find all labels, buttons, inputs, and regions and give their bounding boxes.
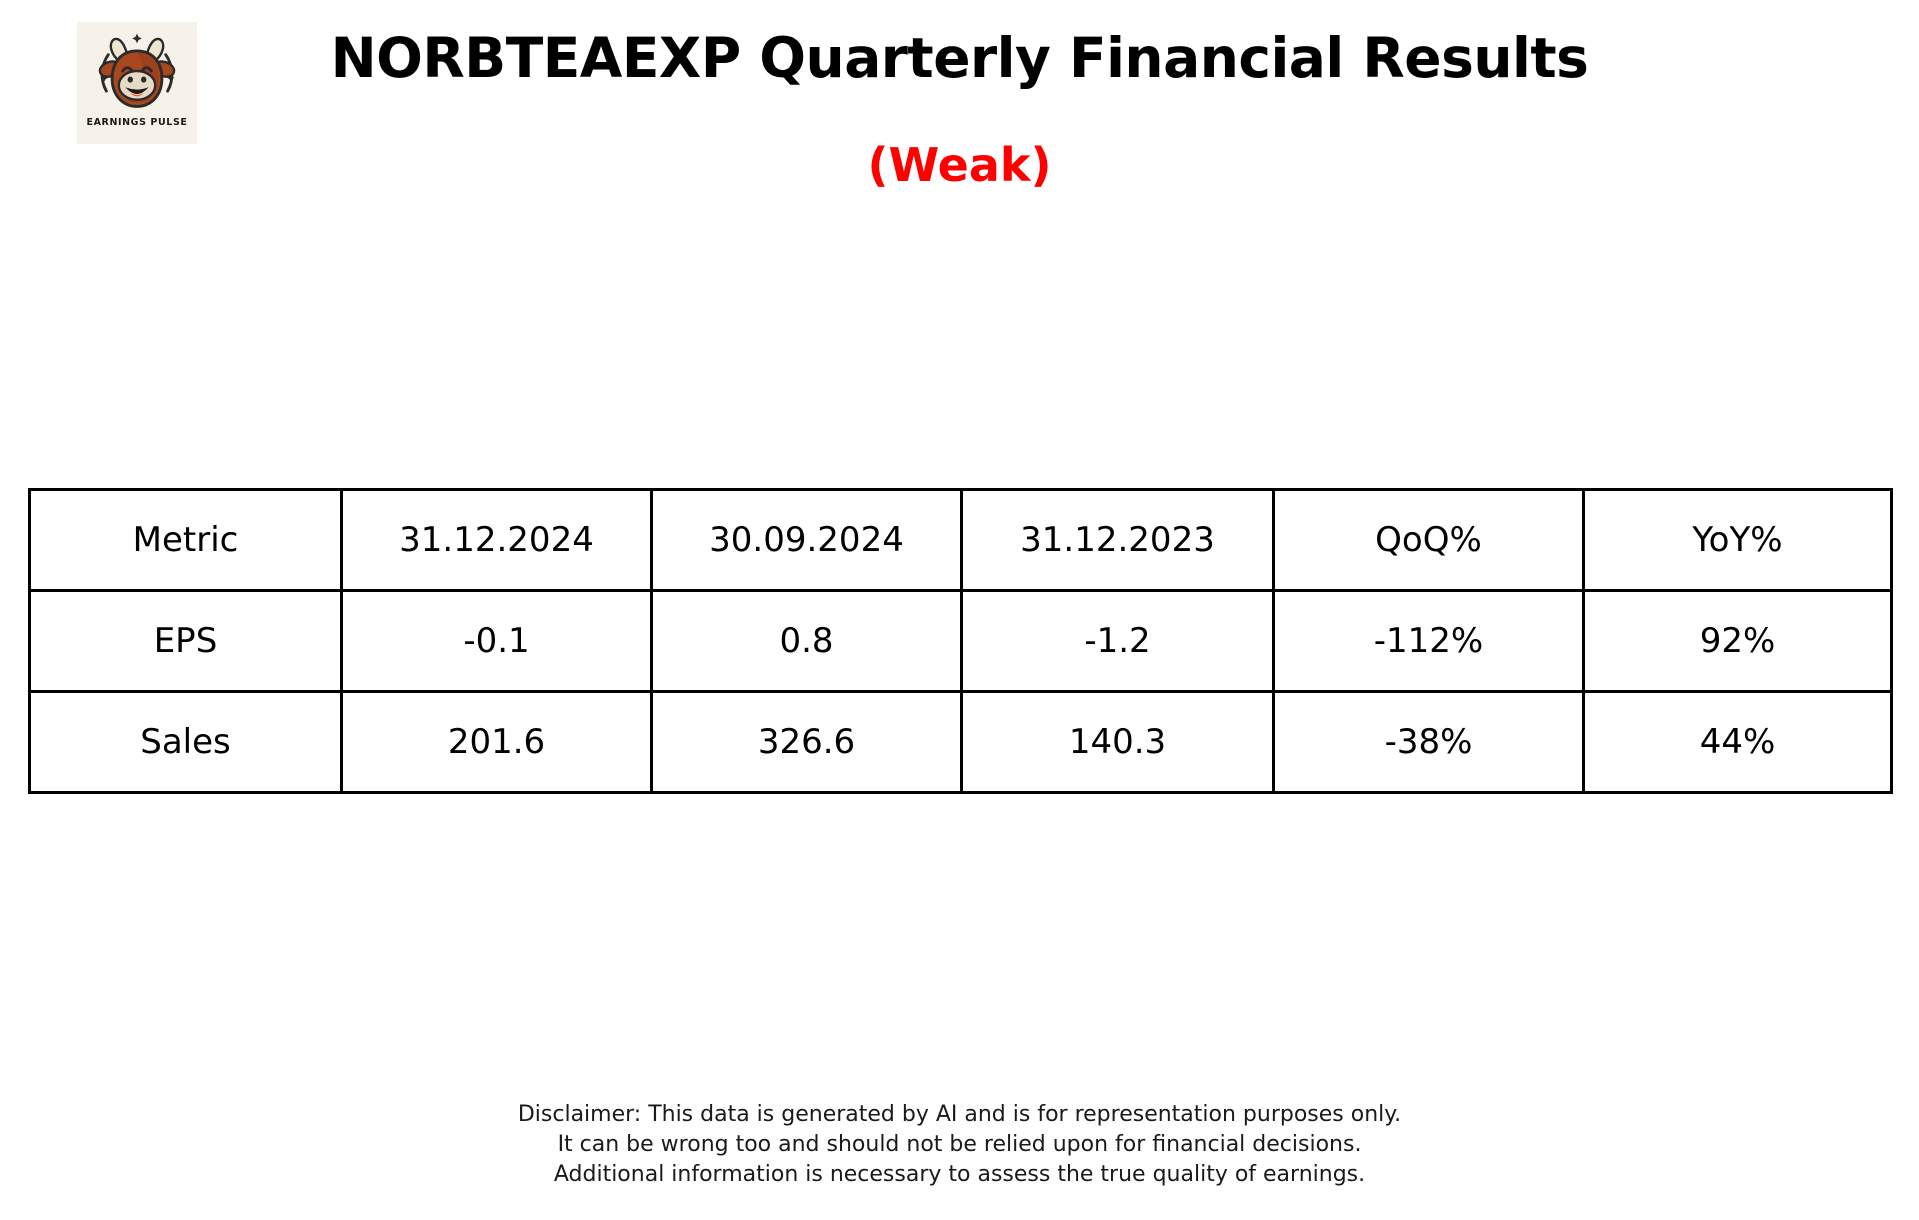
page-title: NORBTEAEXP Quarterly Financial Results	[0, 24, 1919, 92]
column-header-qoq: QoQ%	[1274, 490, 1584, 591]
disclaimer-line-2: It can be wrong too and should not be re…	[0, 1130, 1919, 1160]
eps-prev-quarter-value: 0.8	[652, 591, 962, 692]
sentiment-subtitle: (Weak)	[0, 136, 1919, 194]
disclaimer-line-1: Disclaimer: This data is generated by AI…	[0, 1100, 1919, 1130]
quarterly-results-table: Metric 31.12.2024 30.09.2024 31.12.2023 …	[28, 488, 1893, 794]
disclaimer: Disclaimer: This data is generated by AI…	[0, 1100, 1919, 1190]
eps-qoq-change: -112%	[1274, 591, 1584, 692]
row-label-sales: Sales	[30, 692, 342, 793]
eps-yoy-change: 92%	[1584, 591, 1892, 692]
column-header-metric: Metric	[30, 490, 342, 591]
disclaimer-line-3: Additional information is necessary to a…	[0, 1160, 1919, 1190]
table-header-row: Metric 31.12.2024 30.09.2024 31.12.2023 …	[30, 490, 1892, 591]
sales-current-quarter-value: 201.6	[342, 692, 652, 793]
eps-prev-year-value: -1.2	[962, 591, 1274, 692]
table-row: Sales 201.6 326.6 140.3 -38% 44%	[30, 692, 1892, 793]
sales-prev-year-value: 140.3	[962, 692, 1274, 793]
logo-wordmark: EARNINGS PULSE	[86, 117, 187, 128]
column-header-current-quarter: 31.12.2024	[342, 490, 652, 591]
column-header-prev-year: 31.12.2023	[962, 490, 1274, 591]
sales-yoy-change: 44%	[1584, 692, 1892, 793]
table-row: EPS -0.1 0.8 -1.2 -112% 92%	[30, 591, 1892, 692]
column-header-yoy: YoY%	[1584, 490, 1892, 591]
eps-current-quarter-value: -0.1	[342, 591, 652, 692]
sales-qoq-change: -38%	[1274, 692, 1584, 793]
column-header-prev-quarter: 30.09.2024	[652, 490, 962, 591]
row-label-eps: EPS	[30, 591, 342, 692]
sales-prev-quarter-value: 326.6	[652, 692, 962, 793]
